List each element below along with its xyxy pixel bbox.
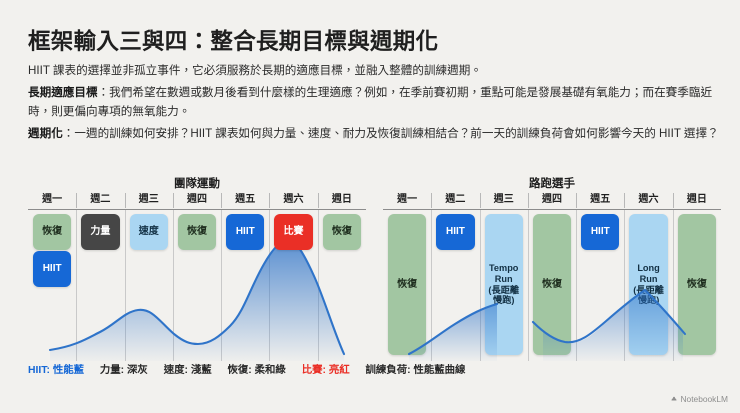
slide-root: 框架輸入三與四：整合長期目標與週期化 HIIT 課表的選擇並非孤立事件，它必須服… [0, 0, 740, 413]
day-label-wed: 週三 [480, 192, 528, 209]
chart-title-road-runner: 路跑選手 [383, 176, 721, 192]
session-card-competition[interactable]: 比賽 [274, 214, 312, 250]
legend-item-training-load: 訓練負荷: 性能藍曲線 [366, 365, 466, 376]
session-card-hiit[interactable]: HIIT [33, 251, 71, 287]
page-title: 框架輸入三與四：整合長期目標與週期化 [28, 24, 438, 56]
session-cards-team-sport: 恢復 HIIT 力量 速度 恢復 HIIT [28, 210, 366, 361]
charts-region: 團隊運動 週一 週二 週三 週四 週五 週六 週日 [0, 176, 740, 361]
day-header-road-runner: 週一 週二 週三 週四 週五 週六 週日 [383, 192, 721, 210]
session-card-hiit[interactable]: HIIT [226, 214, 264, 250]
legend-item-hiit: HIIT: 性能藍 [28, 365, 84, 376]
day-label-fri: 週五 [221, 192, 269, 209]
periodization-paragraph: 週期化：一週的訓練如何安排？HIIT 課表如何與力量、速度、耐力及恢復訓練相結合… [28, 125, 722, 144]
day-label-sat: 週六 [624, 192, 672, 209]
goal-text: ：我們希望在數週或數月後看到什麼樣的生理適應？例如，在季前賽初期，重點可能是發展… [28, 86, 712, 118]
legend-item-strength: 力量: 深灰 [100, 365, 148, 376]
body-copy: HIIT 課表的選擇並非孤立事件，它必須服務於長期的適應目標，並融入整體的訓練週… [28, 62, 722, 148]
session-card-recovery[interactable]: 恢復 [323, 214, 361, 250]
legend: HIIT: 性能藍 力量: 深灰 速度: 淺藍 恢復: 柔和綠 比賽: 亮紅 訓… [28, 361, 465, 376]
day-label-fri: 週五 [576, 192, 624, 209]
day-label-wed: 週三 [125, 192, 173, 209]
legend-item-recovery: 恢復: 柔和綠 [228, 365, 286, 376]
day-column-tue: 力量 [76, 210, 124, 361]
chart-team-sport: 團隊運動 週一 週二 週三 週四 週五 週六 週日 [28, 176, 366, 361]
day-label-thu: 週四 [173, 192, 221, 209]
day-column-fri: HIIT [221, 210, 269, 361]
session-card-recovery[interactable]: 恢復 [178, 214, 216, 250]
notebooklm-label: NotebookLM [681, 394, 729, 404]
day-label-sat: 週六 [269, 192, 317, 209]
day-label-mon: 週一 [28, 192, 76, 209]
session-card-strength[interactable]: 力量 [81, 214, 119, 250]
periodization-label: 週期化 [28, 127, 63, 140]
day-label-sun: 週日 [673, 192, 721, 209]
day-column-mon: 恢復 HIIT [28, 210, 76, 361]
notebooklm-icon [670, 395, 678, 403]
chart-title-team-sport: 團隊運動 [28, 176, 366, 192]
day-label-thu: 週四 [528, 192, 576, 209]
goal-label: 長期適應目標 [28, 86, 98, 99]
day-label-tue: 週二 [431, 192, 479, 209]
day-label-mon: 週一 [383, 192, 431, 209]
chart-road-runner: 路跑選手 週一 週二 週三 週四 週五 週六 週日 恢復 [383, 176, 721, 361]
periodization-text: ：一週的訓練如何安排？HIIT 課表如何與力量、速度、耐力及恢復訓練相結合？前一… [63, 127, 719, 140]
day-column-thu: 恢復 [173, 210, 221, 361]
goal-paragraph: 長期適應目標：我們希望在數週或數月後看到什麼樣的生理適應？例如，在季前賽初期，重… [28, 84, 722, 122]
load-curve-road-runner [383, 210, 721, 361]
session-card-recovery[interactable]: 恢復 [33, 214, 71, 250]
legend-item-speed: 速度: 淺藍 [164, 365, 212, 376]
day-column-sat: 比賽 [269, 210, 317, 361]
intro-paragraph: HIIT 課表的選擇並非孤立事件，它必須服務於長期的適應目標，並融入整體的訓練週… [28, 62, 722, 81]
day-label-sun: 週日 [318, 192, 366, 209]
day-label-tue: 週二 [76, 192, 124, 209]
intro-text: HIIT 課表的選擇並非孤立事件，它必須服務於長期的適應目標，並融入整體的訓練週… [28, 64, 482, 77]
legend-item-competition: 比賽: 亮紅 [302, 365, 350, 376]
day-header-team-sport: 週一 週二 週三 週四 週五 週六 週日 [28, 192, 366, 210]
session-card-speed[interactable]: 速度 [130, 214, 168, 250]
plot-area-road-runner: 恢復 HIIT Tempo Run (長距離 慢跑) 恢復 HIIT [383, 210, 721, 361]
day-column-sun: 恢復 [318, 210, 366, 361]
notebooklm-watermark: NotebookLM [670, 394, 729, 404]
plot-area-team-sport: 恢復 HIIT 力量 速度 恢復 HIIT [28, 210, 366, 361]
day-column-wed: 速度 [125, 210, 173, 361]
